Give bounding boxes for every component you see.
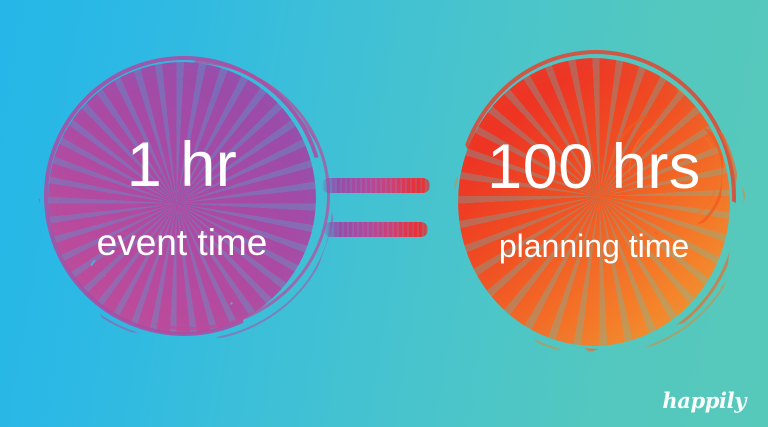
right-stat-headline: 100 hrs <box>458 136 730 199</box>
equals-bar-bottom <box>324 222 428 237</box>
equals-sign-icon <box>322 178 430 244</box>
left-stat-circle: 1 hr event time <box>48 62 316 334</box>
right-stat-circle: 100 hrs planning time <box>458 58 730 346</box>
equals-bar-top <box>322 178 430 193</box>
left-stat-subline: event time <box>48 224 316 261</box>
left-stat-headline: 1 hr <box>48 134 316 197</box>
right-stat-subline: planning time <box>458 230 730 262</box>
infographic-canvas: 1 hr event time 100 hrs planning time ha… <box>0 0 768 427</box>
brand-logo: happily <box>662 388 746 413</box>
